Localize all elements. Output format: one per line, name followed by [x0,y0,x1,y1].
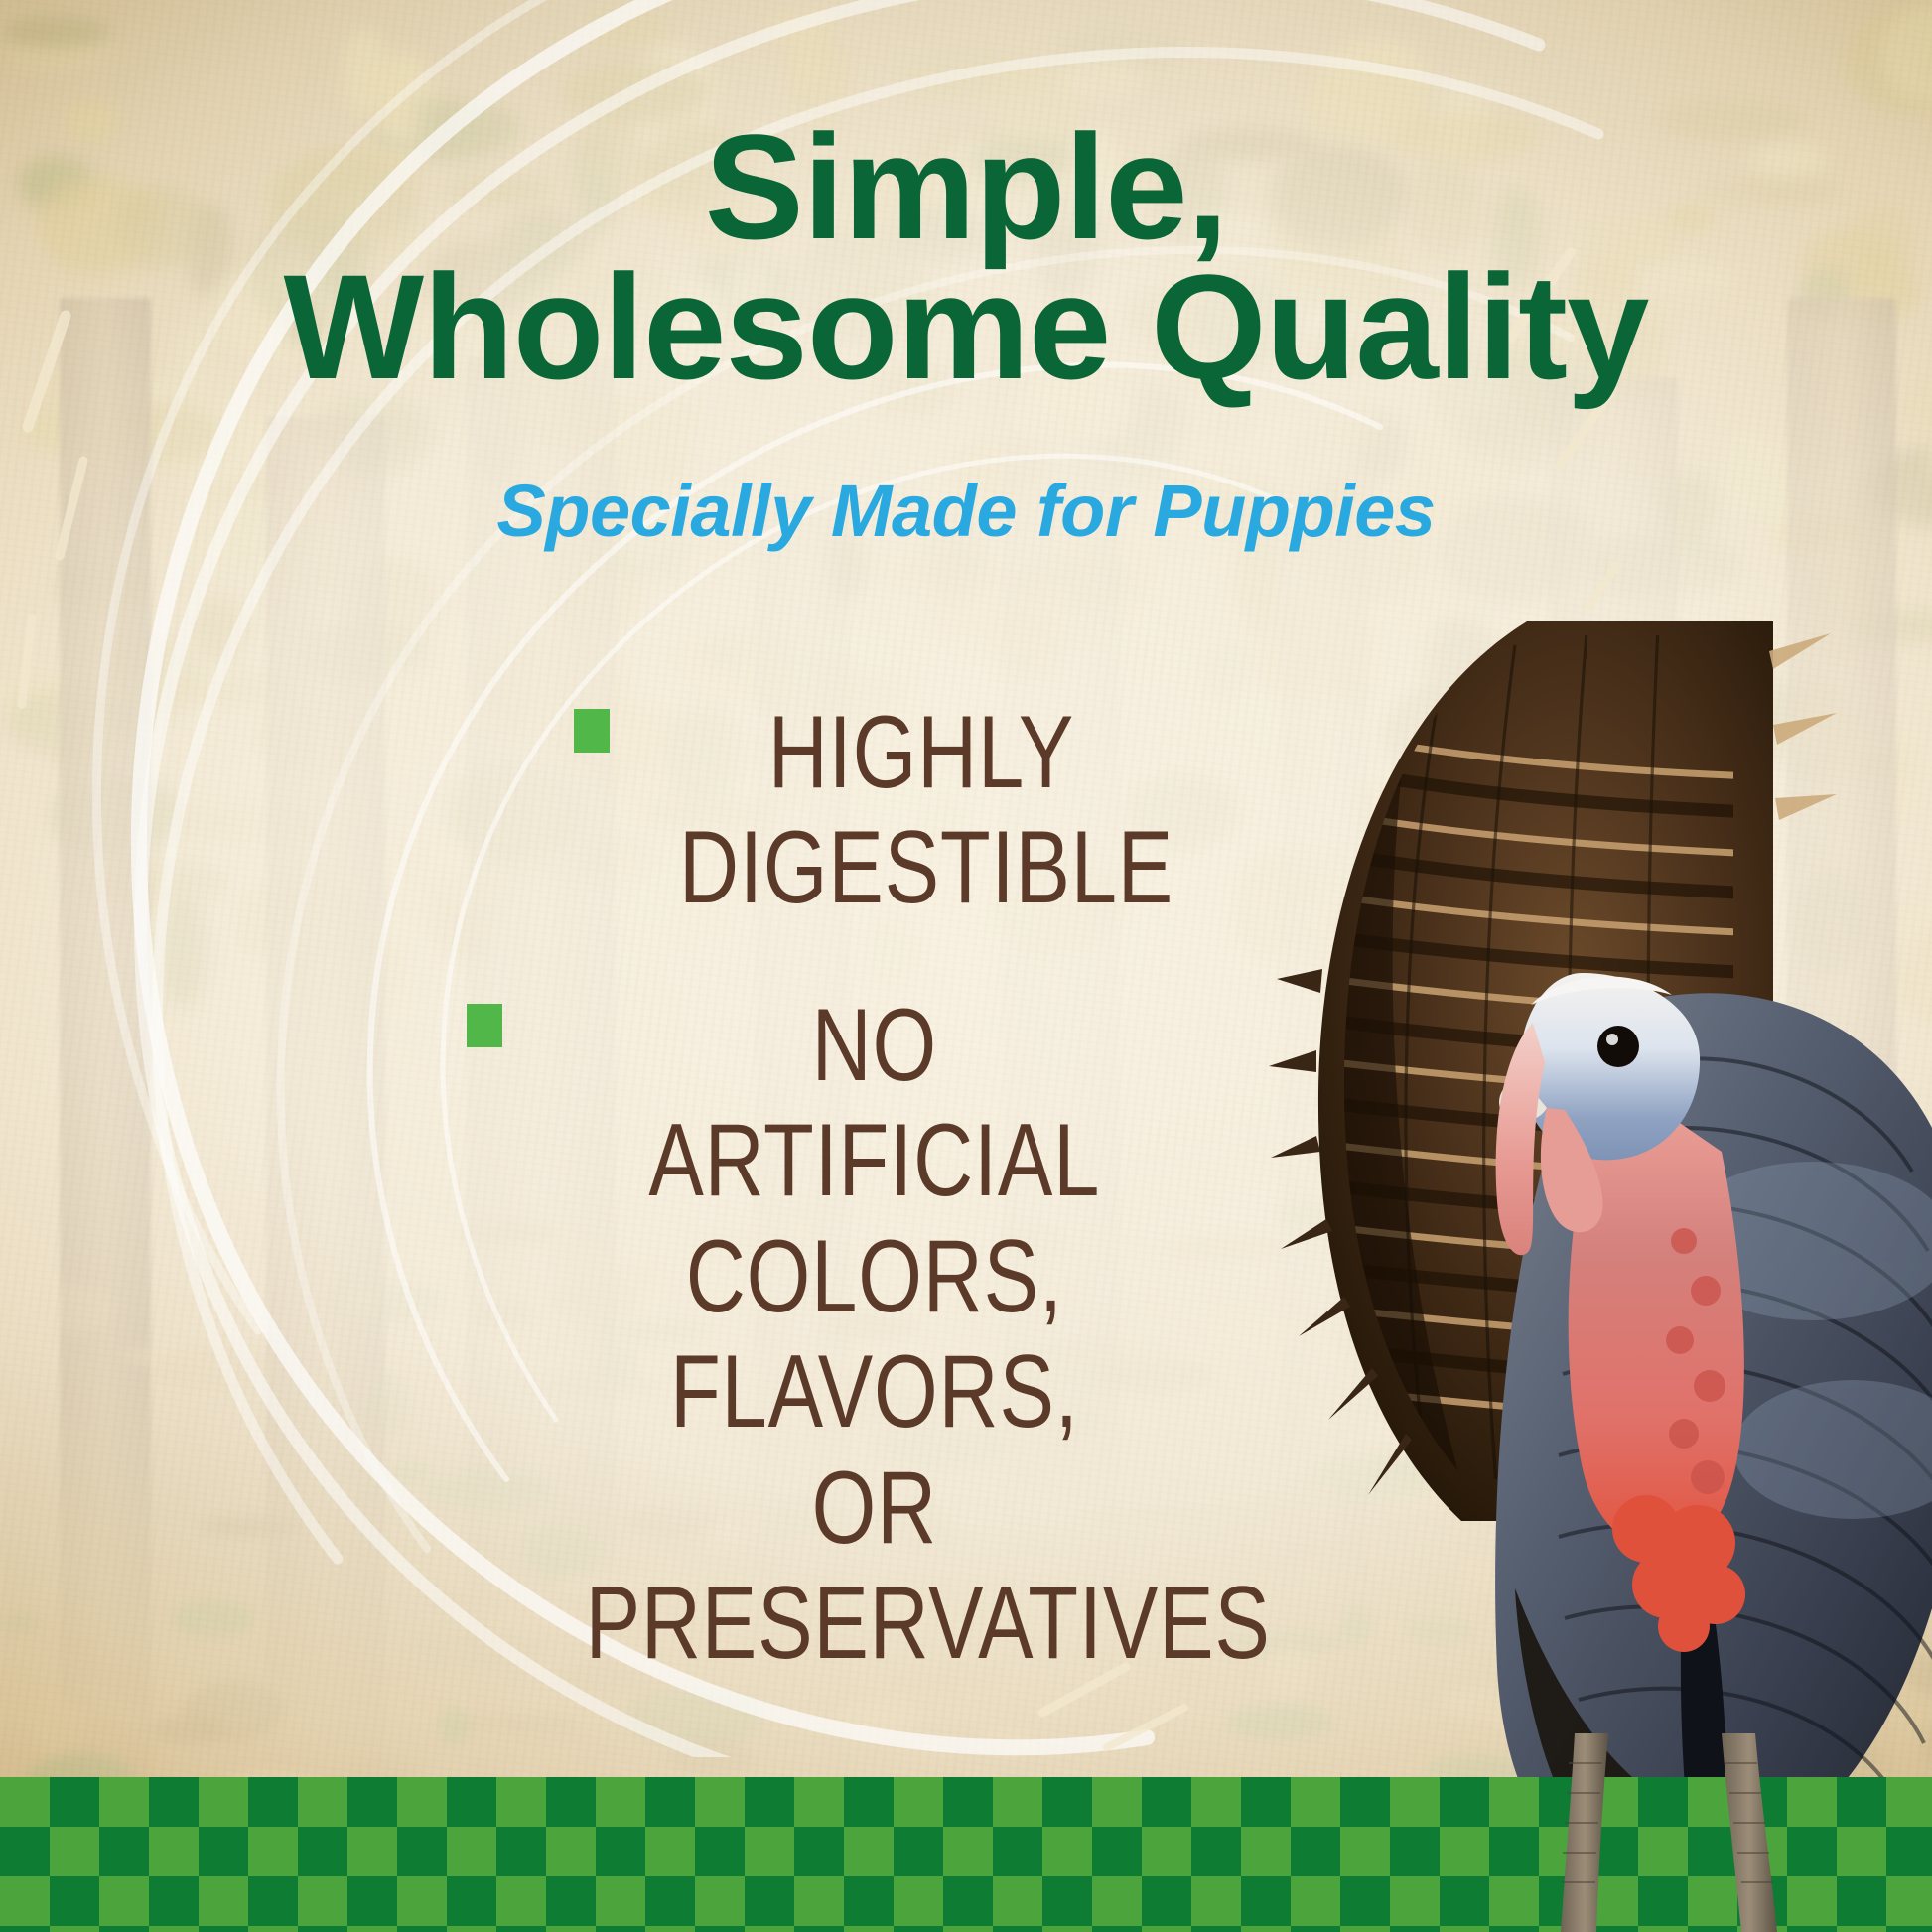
bullet-2-line-3: OR PRESERVATIVES [586,1450,1164,1682]
bullet-square-icon [467,1004,502,1047]
bullet-1-line-2: DIGESTIBLE [679,810,1164,925]
turkey-photo [1217,556,1932,1932]
bullet-2-line-1: NO ARTIFICIAL [586,988,1164,1219]
list-item: NO ARTIFICIAL COLORS, FLAVORS, OR PRESER… [467,988,1241,1682]
bullet-2-line-2: COLORS, FLAVORS, [586,1219,1164,1450]
page-title: Simple, Wholesome Quality [0,117,1932,397]
headline-line-2: Wholesome Quality [0,257,1932,397]
feature-bullet-list: HIGHLY DIGESTIBLE NO ARTIFICIAL COLORS, … [467,695,1241,1743]
bullet-1-line-1: HIGHLY [679,695,1164,810]
page-subtitle: Specially Made for Puppies [0,469,1932,553]
turkey-legs-overlay [1535,1733,1833,1932]
bullet-text: HIGHLY DIGESTIBLE [544,695,1164,926]
headline-line-1: Simple, [0,117,1932,257]
promotional-banner: Simple, Wholesome Quality Specially Made… [0,0,1932,1932]
bullet-text: NO ARTIFICIAL COLORS, FLAVORS, OR PRESER… [544,988,1164,1682]
list-item: HIGHLY DIGESTIBLE [467,695,1241,926]
